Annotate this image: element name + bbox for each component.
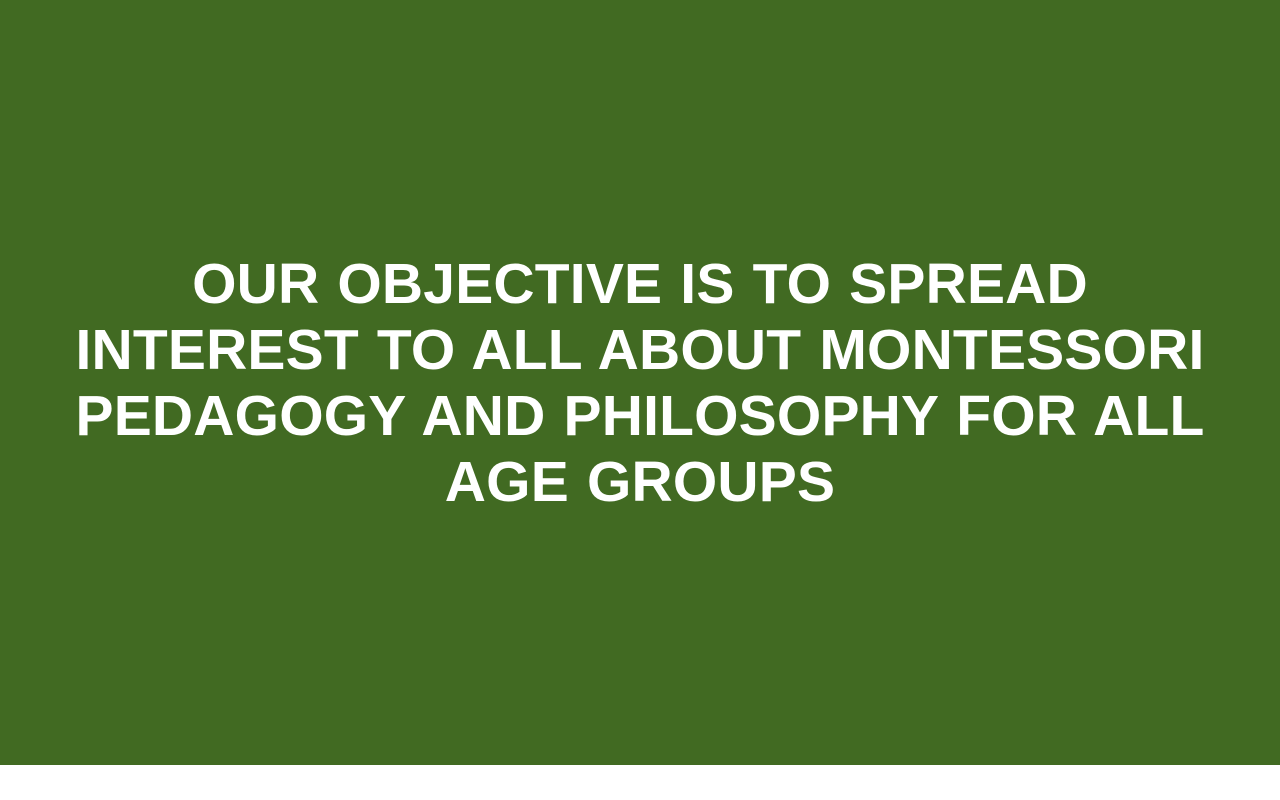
bottom-white-strip [0,765,1280,800]
banner-headline: OUR OBJECTIVE IS TO SPREAD INTEREST TO A… [70,251,1210,515]
hero-banner: OUR OBJECTIVE IS TO SPREAD INTEREST TO A… [0,0,1280,765]
